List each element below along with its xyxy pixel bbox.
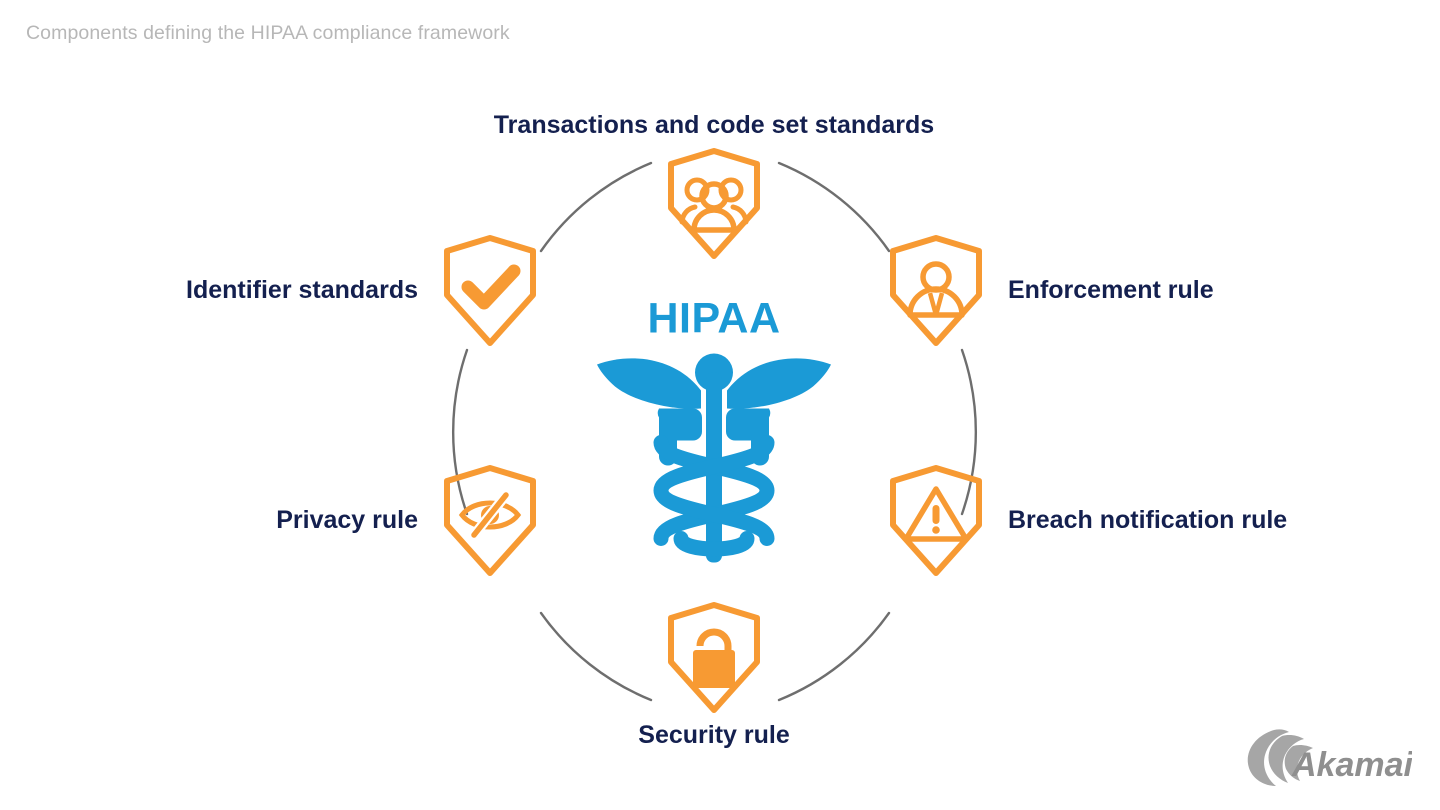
node-label-privacy-rule: Privacy rule xyxy=(276,507,418,535)
node-label-breach-notification-rule: Breach notification rule xyxy=(1008,507,1287,535)
center-title: HIPAA xyxy=(549,298,879,341)
shield-transactions[interactable] xyxy=(664,146,764,261)
hipaa-framework-diagram: HIPAA Transactions xyxy=(0,0,1440,810)
node-identifier-standards[interactable]: Identifier standards xyxy=(182,233,540,348)
arc-top-right xyxy=(779,163,889,251)
shield-security-rule[interactable] xyxy=(664,600,764,715)
diagram-center: HIPAA xyxy=(549,298,879,567)
arc-top-left xyxy=(541,163,651,251)
shield-enforcement-rule[interactable] xyxy=(886,233,986,348)
node-label-security-rule: Security rule xyxy=(638,722,789,750)
eye-slash-icon xyxy=(440,463,540,578)
warning-triangle-icon xyxy=(886,463,986,578)
akamai-logo: Akamai xyxy=(1244,726,1412,788)
shield-breach-notification-rule[interactable] xyxy=(886,463,986,578)
node-label-transactions: Transactions and code set standards xyxy=(494,112,934,140)
node-label-enforcement-rule: Enforcement rule xyxy=(1008,277,1214,305)
akamai-wordmark: Akamai xyxy=(1291,746,1412,784)
shield-privacy-rule[interactable] xyxy=(440,463,540,578)
checkmark-icon xyxy=(440,233,540,348)
caduceus-icon xyxy=(589,347,839,567)
node-enforcement-rule[interactable]: Enforcement rule xyxy=(886,233,1214,348)
shield-identifier-standards[interactable] xyxy=(440,233,540,348)
node-privacy-rule[interactable]: Privacy rule xyxy=(182,463,540,578)
node-label-identifier-standards: Identifier standards xyxy=(186,277,418,305)
group-of-people-icon xyxy=(664,146,764,261)
node-transactions[interactable]: Transactions and code set standards xyxy=(664,146,764,261)
arc-bottom-right xyxy=(779,613,889,700)
padlock-icon xyxy=(664,600,764,715)
person-official-icon xyxy=(886,233,986,348)
arc-bottom-left xyxy=(541,613,651,700)
node-breach-notification-rule[interactable]: Breach notification rule xyxy=(886,463,1287,578)
node-security-rule[interactable]: Security rule xyxy=(664,600,764,715)
